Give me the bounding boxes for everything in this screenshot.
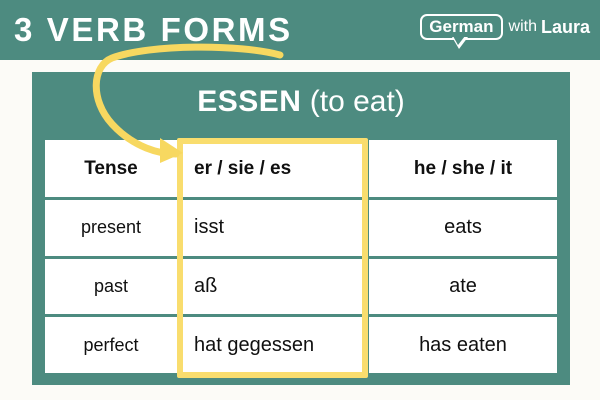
cell-tense: past [45,259,177,315]
table-header-row: Tense er / sie / es he / she / it [45,140,557,197]
logo-bubble-text: German [429,17,493,36]
cell-german-form: hat gegessen [180,317,366,373]
top-banner: 3 VERB FORMS German with Laura [0,0,600,60]
logo-with-text: with [509,18,537,36]
verb-panel: ESSEN (to eat) Tense er / sie / es he / … [32,72,570,385]
conjugation-table: Tense er / sie / es he / she / it presen… [45,140,557,373]
table-row: present isst eats [45,200,557,256]
cell-tense: perfect [45,317,177,373]
table-row: perfect hat gegessen has eaten [45,317,557,373]
table-row: past aß ate [45,259,557,315]
page-title: 3 VERB FORMS [14,8,293,52]
cell-english-form: has eaten [369,317,557,373]
verb-translation: (to eat) [310,85,405,118]
cell-english-form: ate [369,259,557,315]
column-header-german-pronoun: er / sie / es [180,140,366,197]
verb-heading: ESSEN (to eat) [32,84,570,120]
column-header-english-pronoun: he / she / it [369,140,557,197]
cell-tense: present [45,200,177,256]
brand-logo: German with Laura [420,10,590,44]
cell-german-form: aß [180,259,366,315]
cell-english-form: eats [369,200,557,256]
verb-infinitive: ESSEN [197,85,301,118]
speech-bubble-icon: German [420,14,502,40]
speech-bubble-tail-inner-icon [453,36,465,45]
logo-name-text: Laura [541,17,590,38]
column-header-tense: Tense [45,140,177,197]
cell-german-form: isst [180,200,366,256]
